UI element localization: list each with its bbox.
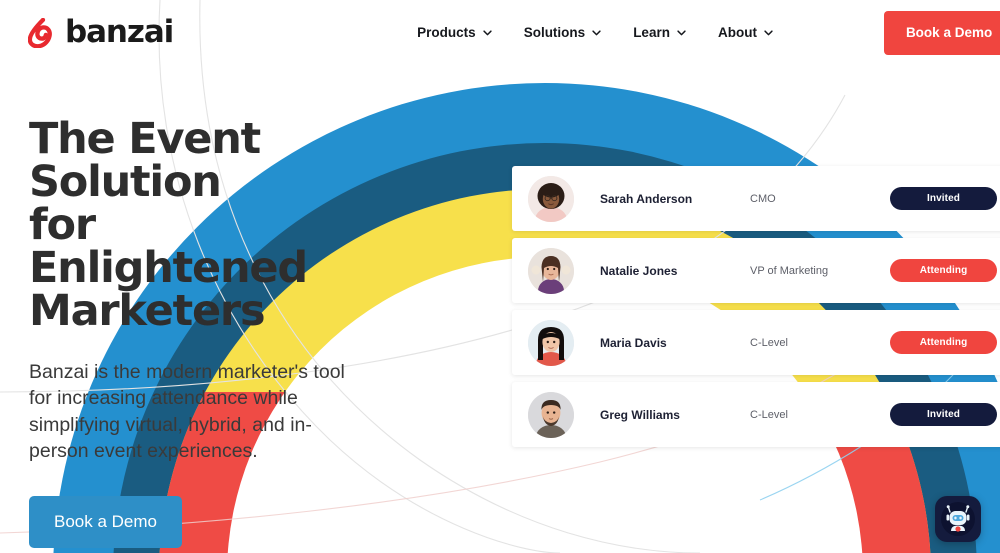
logo[interactable]: banzai <box>28 17 173 48</box>
avatar-image-greg-williams <box>528 392 574 438</box>
chevron-down-icon <box>677 30 686 36</box>
person-role: C-Level <box>750 337 860 349</box>
hero-description: Banzai is the modern marketer's tool for… <box>29 359 359 464</box>
logo-text: banzai <box>65 17 173 48</box>
avatar <box>528 392 574 438</box>
robot-chat-icon <box>939 500 977 538</box>
status-badge[interactable]: Attending <box>890 259 997 282</box>
person-name: Greg Williams <box>600 408 750 422</box>
status-badge[interactable]: Attending <box>890 331 997 354</box>
chevron-down-icon <box>764 30 773 36</box>
table-row[interactable]: Sarah Anderson CMO Invited <box>512 166 1000 231</box>
person-role: C-Level <box>750 409 860 421</box>
book-demo-hero-button[interactable]: Book a Demo <box>29 496 182 548</box>
chevron-down-icon <box>592 30 601 36</box>
person-name: Natalie Jones <box>600 264 750 278</box>
avatar <box>528 248 574 294</box>
attendee-list: Sarah Anderson CMO Invited Natalie <box>512 166 1000 454</box>
avatar-image-sarah-anderson <box>528 176 574 222</box>
table-row[interactable]: Greg Williams C-Level Invited <box>512 382 1000 447</box>
nav-label: About <box>718 25 757 40</box>
nav-item-about[interactable]: About <box>718 25 773 40</box>
header-actions: Login Book a Demo <box>803 11 1000 55</box>
avatar <box>528 320 574 366</box>
status-badge[interactable]: Invited <box>890 187 997 210</box>
person-name: Sarah Anderson <box>600 192 750 206</box>
hero-section: The Event Solution for Enlightened Marke… <box>29 118 449 548</box>
table-row[interactable]: Natalie Jones VP of Marketing Attending <box>512 238 1000 303</box>
chevron-down-icon <box>483 30 492 36</box>
person-name: Maria Davis <box>600 336 750 350</box>
person-role: CMO <box>750 193 860 205</box>
book-demo-header-button[interactable]: Book a Demo <box>884 11 1000 55</box>
nav-label: Solutions <box>524 25 586 40</box>
nav-label: Learn <box>633 25 670 40</box>
page-root: banzai Products Solutions Learn <box>0 0 1000 553</box>
nav-item-solutions[interactable]: Solutions <box>524 25 602 40</box>
status-badge[interactable]: Invited <box>890 403 997 426</box>
main-nav: Products Solutions Learn About <box>417 25 773 40</box>
nav-item-learn[interactable]: Learn <box>633 25 686 40</box>
table-row[interactable]: Maria Davis C-Level Attending <box>512 310 1000 375</box>
nav-label: Products <box>417 25 476 40</box>
person-role: VP of Marketing <box>750 265 860 277</box>
nav-item-products[interactable]: Products <box>417 25 492 40</box>
avatar-image-natalie-jones <box>528 248 574 294</box>
banzai-teardrop-logo-icon <box>28 18 58 48</box>
avatar <box>528 176 574 222</box>
login-button[interactable]: Login <box>803 11 871 55</box>
page-title: The Event Solution for Enlightened Marke… <box>29 118 289 333</box>
site-header: banzai Products Solutions Learn <box>0 0 1000 65</box>
avatar-image-maria-davis <box>528 320 574 366</box>
chat-widget-button[interactable] <box>935 496 981 542</box>
